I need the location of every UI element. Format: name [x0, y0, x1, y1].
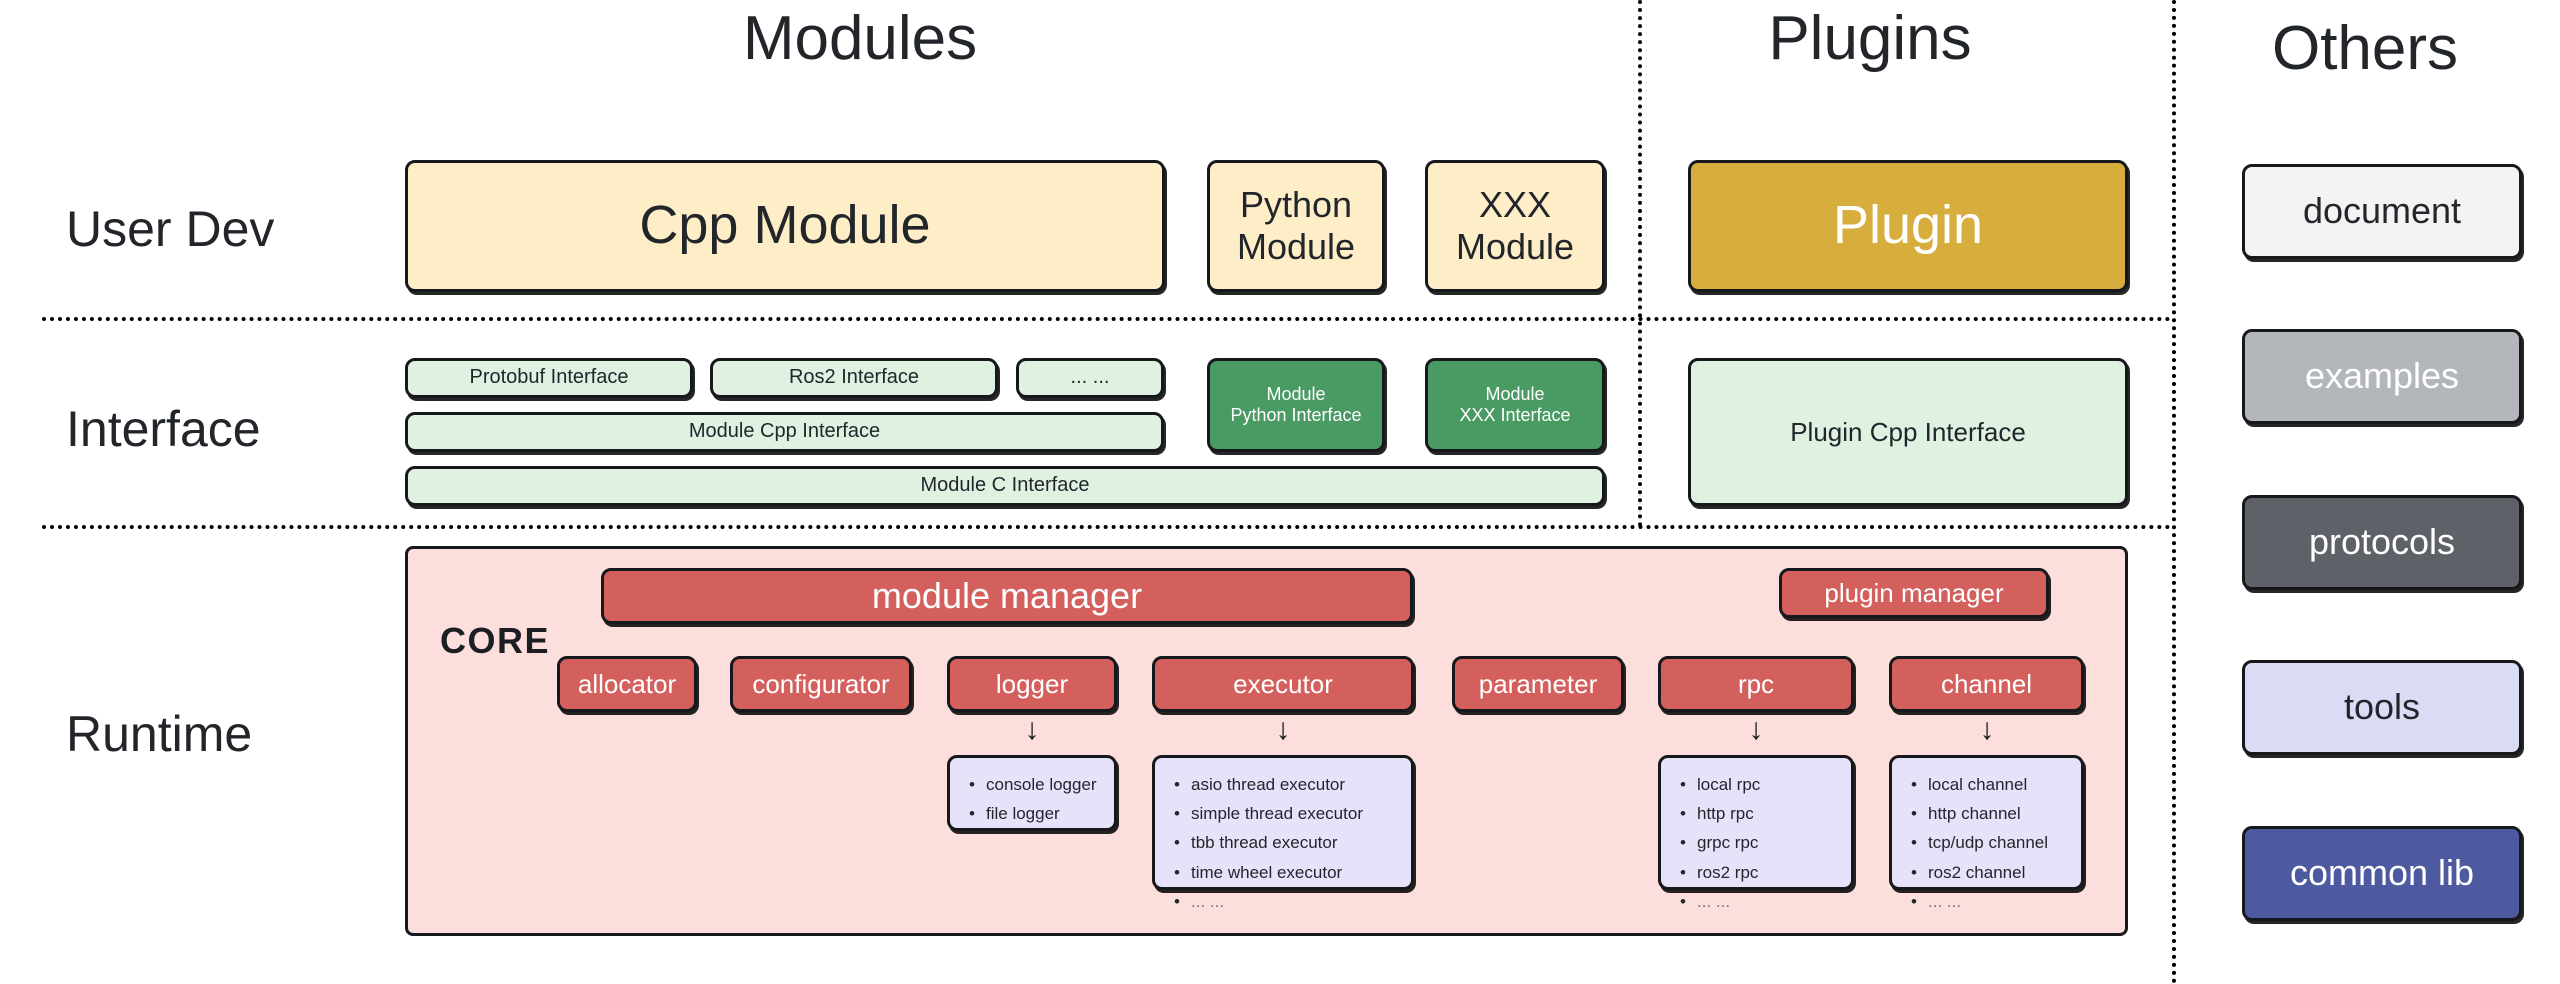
- column-title-plugins: Plugins: [1680, 3, 2060, 74]
- others-item-document[interactable]: document: [2242, 164, 2522, 259]
- list-item: http channel: [1928, 799, 2071, 828]
- plugin-manager-box[interactable]: plugin manager: [1779, 568, 2049, 618]
- divider-plugins-others: [2172, 0, 2176, 984]
- architecture-diagram: Modules Plugins Others User Dev Interfac…: [0, 0, 2560, 984]
- list-item: ros2 rpc: [1697, 858, 1841, 887]
- channel-list: local channelhttp channeltcp/udp channel…: [1906, 770, 2071, 916]
- arrow-channel-down: ↓: [1973, 715, 2001, 745]
- cpp-module-box[interactable]: Cpp Module: [405, 160, 1165, 292]
- arrow-executor-down: ↓: [1269, 715, 1297, 745]
- extra-interface-box[interactable]: ... ...: [1016, 358, 1164, 398]
- list-item: ... ...: [1697, 887, 1841, 916]
- component-configurator-box[interactable]: configurator: [730, 656, 912, 712]
- list-item: tcp/udp channel: [1928, 828, 2071, 857]
- arrow-logger-down: ↓: [1018, 715, 1046, 745]
- component-parameter-box[interactable]: parameter: [1452, 656, 1624, 712]
- channel-detail-list: local channelhttp channeltcp/udp channel…: [1889, 755, 2084, 890]
- ros2-interface-box[interactable]: Ros2 Interface: [710, 358, 998, 398]
- module-manager-box[interactable]: module manager: [601, 568, 1413, 624]
- list-item: tbb thread executor: [1191, 828, 1401, 857]
- rpc-list: local rpchttp rpcgrpc rpcros2 rpc... ...: [1675, 770, 1841, 916]
- core-label: CORE: [440, 620, 550, 662]
- xxx-module-box[interactable]: XXX Module: [1425, 160, 1605, 292]
- module-cpp-interface-box[interactable]: Module Cpp Interface: [405, 412, 1164, 452]
- python-module-label-line2: Module: [1237, 226, 1355, 268]
- rpc-detail-list: local rpchttp rpcgrpc rpcros2 rpc... ...: [1658, 755, 1854, 890]
- row-label-interface: Interface: [66, 400, 261, 458]
- divider-interface-runtime: [42, 525, 2172, 529]
- list-item: asio thread executor: [1191, 770, 1401, 799]
- component-rpc-box[interactable]: rpc: [1658, 656, 1854, 712]
- arrow-rpc-down: ↓: [1742, 715, 1770, 745]
- executor-detail-list: asio thread executorsimple thread execut…: [1152, 755, 1414, 890]
- list-item: ... ...: [1928, 887, 2071, 916]
- module-xxx-interface-box[interactable]: Module XXX Interface: [1425, 358, 1605, 452]
- others-item-common-lib[interactable]: common lib: [2242, 826, 2522, 921]
- module-c-interface-box[interactable]: Module C Interface: [405, 466, 1605, 506]
- list-item: time wheel executor: [1191, 858, 1401, 887]
- list-item: file logger: [986, 799, 1104, 828]
- component-logger-box[interactable]: logger: [947, 656, 1117, 712]
- module-python-interface-label-line2: Python Interface: [1230, 405, 1361, 426]
- row-label-runtime: Runtime: [66, 705, 252, 763]
- module-xxx-interface-label-line1: Module: [1485, 384, 1544, 405]
- module-python-interface-box[interactable]: Module Python Interface: [1207, 358, 1385, 452]
- column-title-modules: Modules: [650, 3, 1070, 74]
- list-item: grpc rpc: [1697, 828, 1841, 857]
- component-channel-box[interactable]: channel: [1889, 656, 2084, 712]
- list-item: http rpc: [1697, 799, 1841, 828]
- module-python-interface-label-line1: Module: [1266, 384, 1325, 405]
- column-title-others: Others: [2200, 13, 2530, 84]
- logger-list: console loggerfile logger: [964, 770, 1104, 828]
- list-item: console logger: [986, 770, 1104, 799]
- others-item-tools[interactable]: tools: [2242, 660, 2522, 755]
- component-executor-box[interactable]: executor: [1152, 656, 1414, 712]
- list-item: ... ...: [1191, 887, 1401, 916]
- others-item-protocols[interactable]: protocols: [2242, 495, 2522, 590]
- plugin-box[interactable]: Plugin: [1688, 160, 2128, 292]
- list-item: local channel: [1928, 770, 2071, 799]
- component-allocator-box[interactable]: allocator: [557, 656, 697, 712]
- xxx-module-label-line1: XXX: [1479, 184, 1551, 226]
- logger-detail-list: console loggerfile logger: [947, 755, 1117, 831]
- plugin-cpp-interface-box[interactable]: Plugin Cpp Interface: [1688, 358, 2128, 506]
- others-item-examples[interactable]: examples: [2242, 329, 2522, 424]
- executor-list: asio thread executorsimple thread execut…: [1169, 770, 1401, 916]
- module-xxx-interface-label-line2: XXX Interface: [1459, 405, 1570, 426]
- python-module-box[interactable]: Python Module: [1207, 160, 1385, 292]
- protobuf-interface-box[interactable]: Protobuf Interface: [405, 358, 693, 398]
- row-label-user-dev: User Dev: [66, 200, 274, 258]
- list-item: local rpc: [1697, 770, 1841, 799]
- xxx-module-label-line2: Module: [1456, 226, 1574, 268]
- divider-userdev-interface: [42, 317, 2172, 321]
- list-item: simple thread executor: [1191, 799, 1401, 828]
- divider-modules-plugins: [1638, 0, 1642, 527]
- python-module-label-line1: Python: [1240, 184, 1352, 226]
- list-item: ros2 channel: [1928, 858, 2071, 887]
